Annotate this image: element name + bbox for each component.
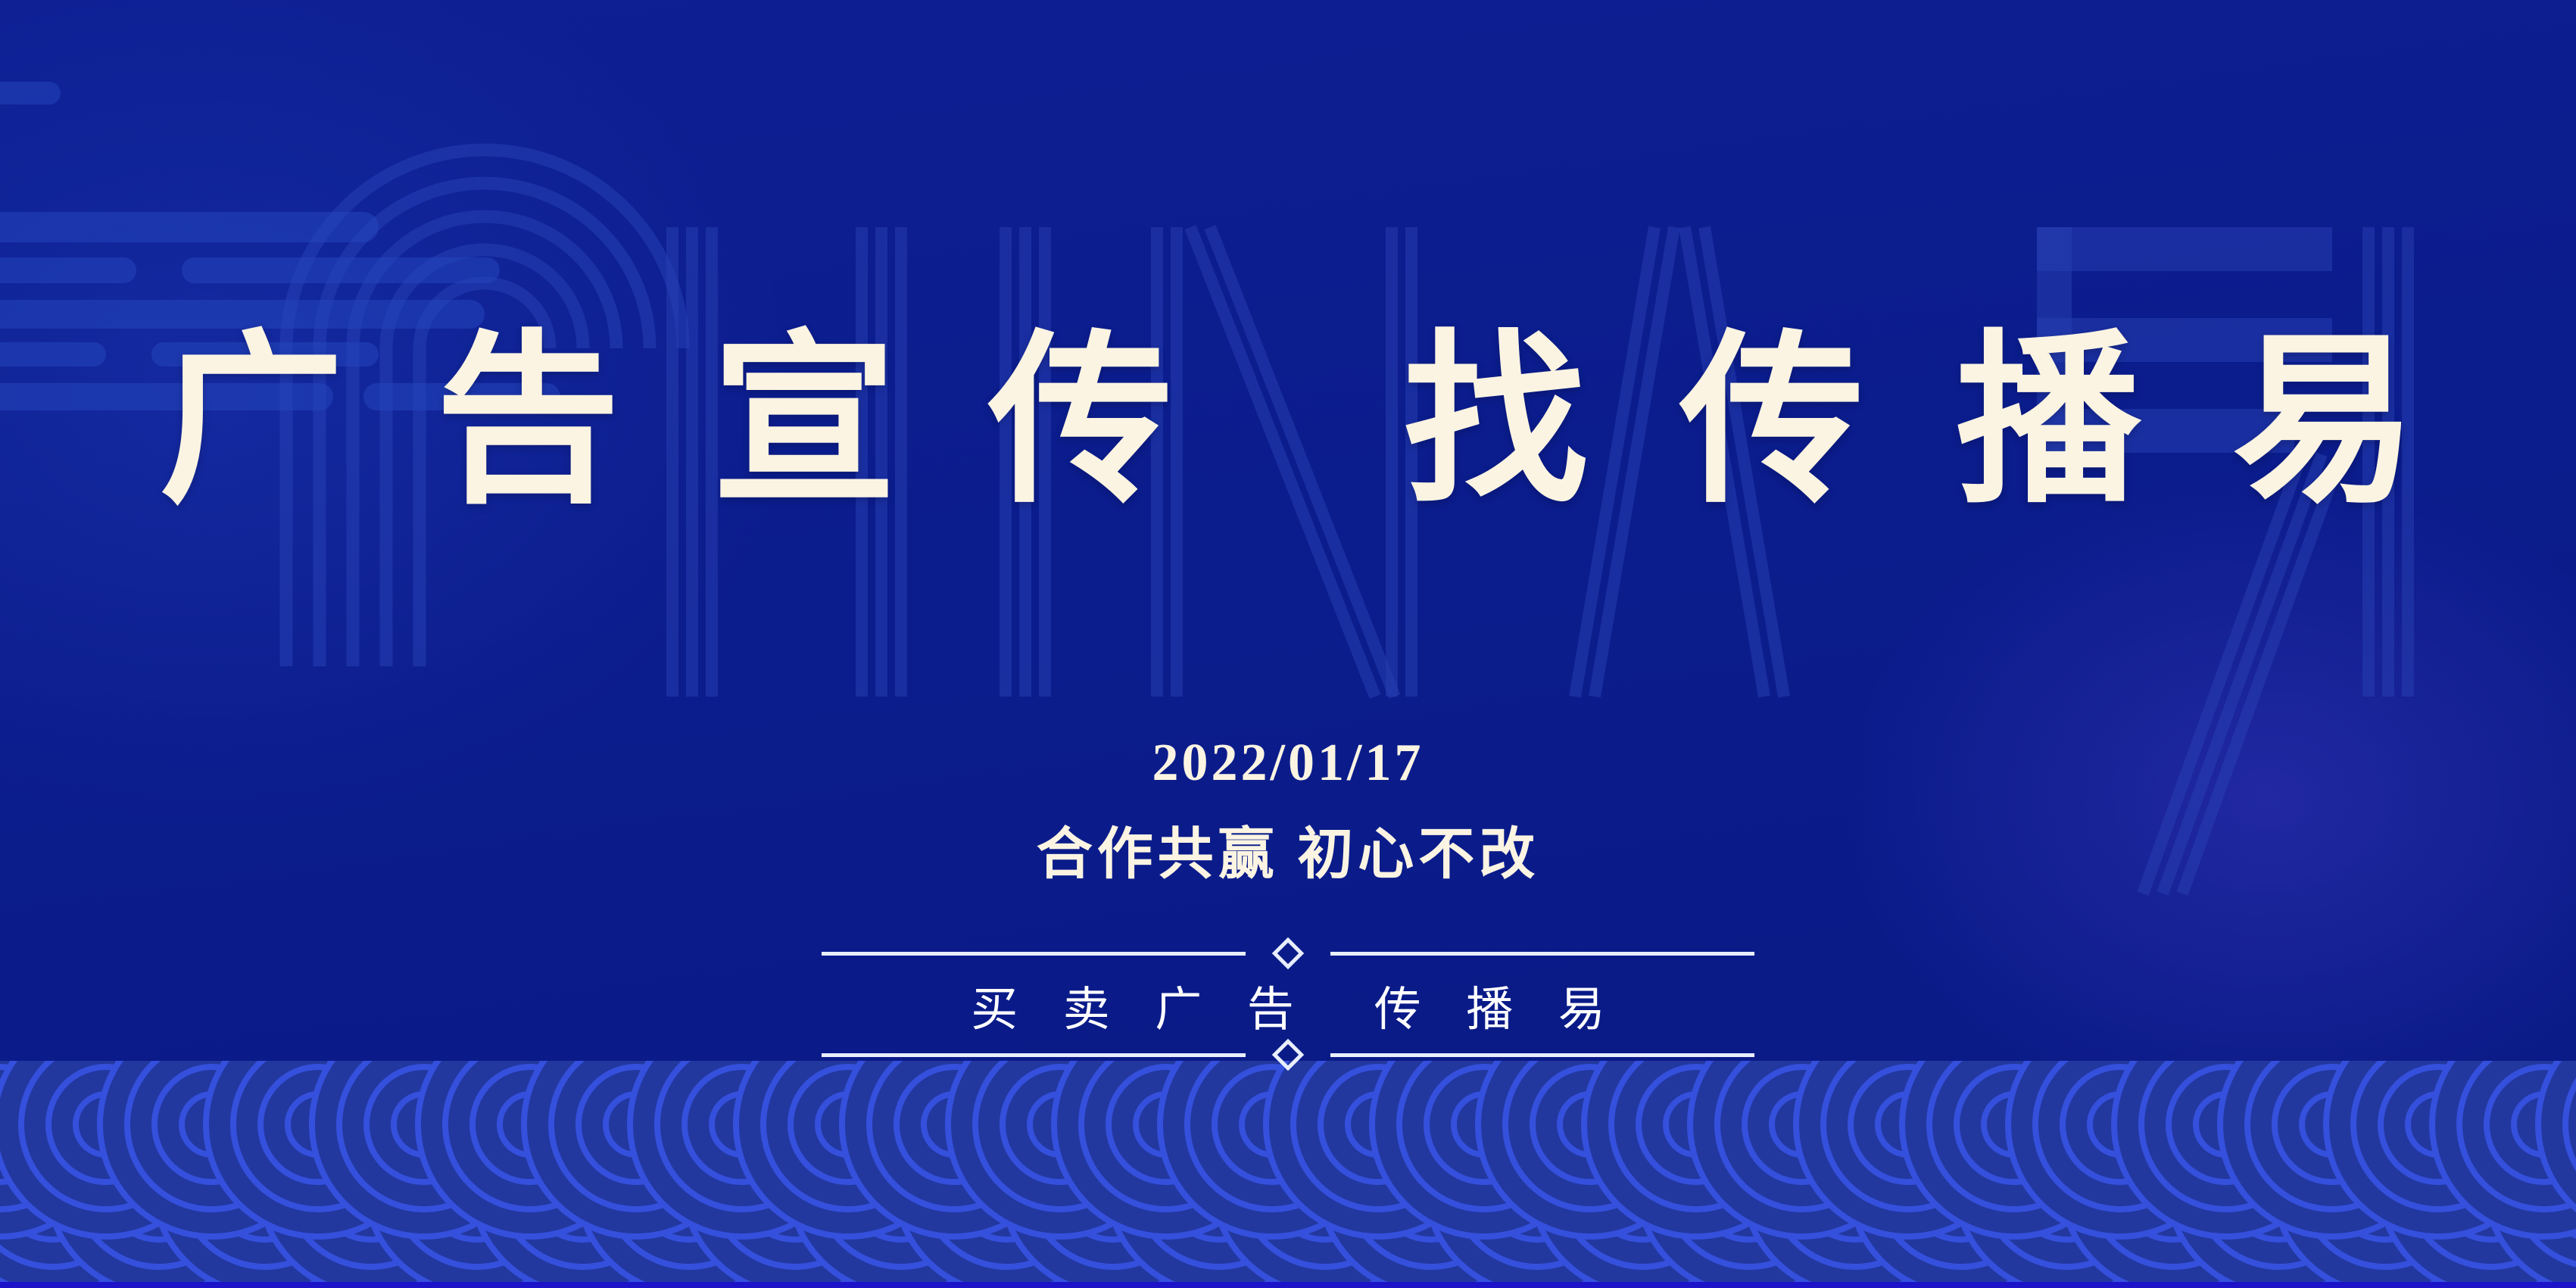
promo-banner: 广 告 宣 传 找 传 播 易 2022/01/17 合作共赢 初心不改 买 卖… (0, 0, 2576, 1288)
banner-content: 广 告 宣 传 找 传 播 易 2022/01/17 合作共赢 初心不改 买 卖… (0, 0, 2576, 1288)
divider-line-right (1330, 952, 1754, 956)
divider-top (822, 936, 1754, 971)
divider-line-left (822, 952, 1246, 956)
diamond-icon (1272, 1039, 1304, 1071)
headline-title: 广 告 宣 传 找 传 播 易 (0, 314, 2576, 532)
divider-bottom (822, 1037, 1754, 1072)
event-date: 2022/01/17 (0, 733, 2576, 794)
divider-line-left (822, 1053, 1246, 1057)
slogan-text: 买 卖 广 告 传 播 易 (0, 971, 2576, 1039)
divider-line-right (1330, 1053, 1754, 1057)
tagline-text: 合作共赢 初心不改 (0, 809, 2576, 890)
diamond-icon (1272, 937, 1304, 969)
